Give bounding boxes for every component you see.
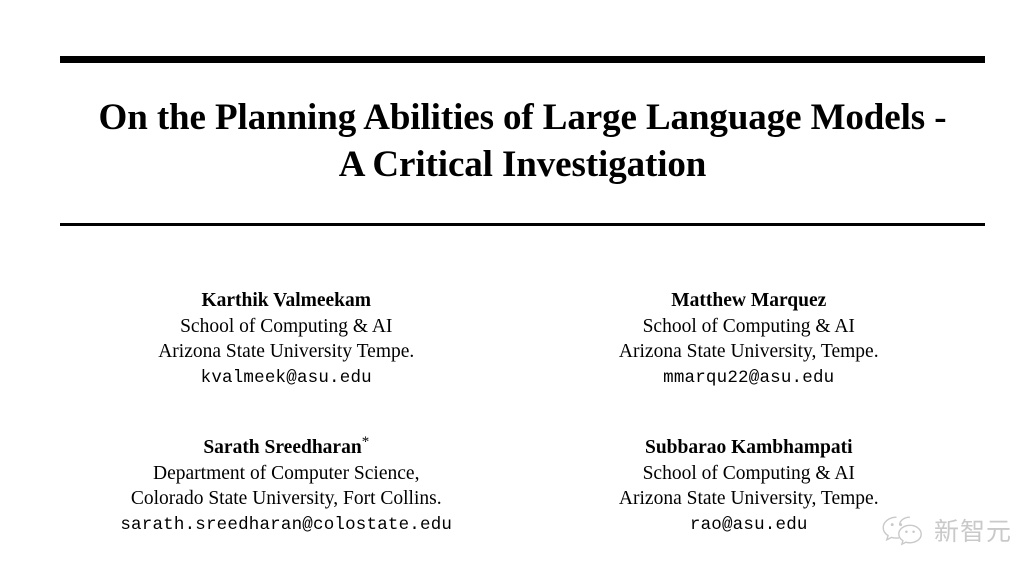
author-email[interactable]: sarath.sreedharan@colostate.edu bbox=[55, 512, 518, 538]
author-name-text: Matthew Marquez bbox=[671, 290, 826, 311]
paper-title-page: On the Planning Abilities of Large Langu… bbox=[0, 0, 1032, 580]
page-title: On the Planning Abilities of Large Langu… bbox=[50, 94, 995, 188]
author-affiliation-line-1: School of Computing & AI bbox=[518, 314, 981, 339]
author-block-2: Matthew Marquez School of Computing & AI… bbox=[518, 288, 981, 391]
author-affiliation-line-2: Arizona State University Tempe. bbox=[55, 339, 518, 364]
author-name: Matthew Marquez bbox=[518, 288, 981, 314]
author-affiliation-line-2: Colorado State University, Fort Collins. bbox=[55, 486, 518, 511]
author-footnote-marker: * bbox=[362, 434, 370, 450]
header-rule-thick bbox=[60, 56, 985, 63]
author-name-text: Subbarao Kambhampati bbox=[645, 437, 853, 458]
author-name-text: Sarath Sreedharan bbox=[203, 437, 361, 458]
author-list: Karthik Valmeekam School of Computing & … bbox=[55, 288, 980, 538]
author-affiliation-line-1: School of Computing & AI bbox=[55, 314, 518, 339]
title-line-2: A Critical Investigation bbox=[50, 141, 995, 188]
author-name: Subbarao Kambhampati bbox=[518, 435, 981, 461]
author-affiliation-line-2: Arizona State University, Tempe. bbox=[518, 339, 981, 364]
author-affiliation-line-1: Department of Computer Science, bbox=[55, 461, 518, 486]
author-block-3: Sarath Sreedharan* Department of Compute… bbox=[55, 435, 518, 538]
author-name: Sarath Sreedharan* bbox=[55, 435, 518, 461]
author-affiliation-line-1: School of Computing & AI bbox=[518, 461, 981, 486]
wechat-icon bbox=[880, 514, 926, 550]
watermark: 新智元 bbox=[880, 508, 1020, 556]
watermark-text: 新智元 bbox=[934, 518, 1012, 546]
author-name-text: Karthik Valmeekam bbox=[201, 290, 371, 311]
author-email[interactable]: kvalmeek@asu.edu bbox=[55, 365, 518, 391]
author-email[interactable]: mmarqu22@asu.edu bbox=[518, 365, 981, 391]
author-name: Karthik Valmeekam bbox=[55, 288, 518, 314]
author-block-1: Karthik Valmeekam School of Computing & … bbox=[55, 288, 518, 391]
header-rule-thin bbox=[60, 223, 985, 226]
title-line-1: On the Planning Abilities of Large Langu… bbox=[50, 94, 995, 141]
